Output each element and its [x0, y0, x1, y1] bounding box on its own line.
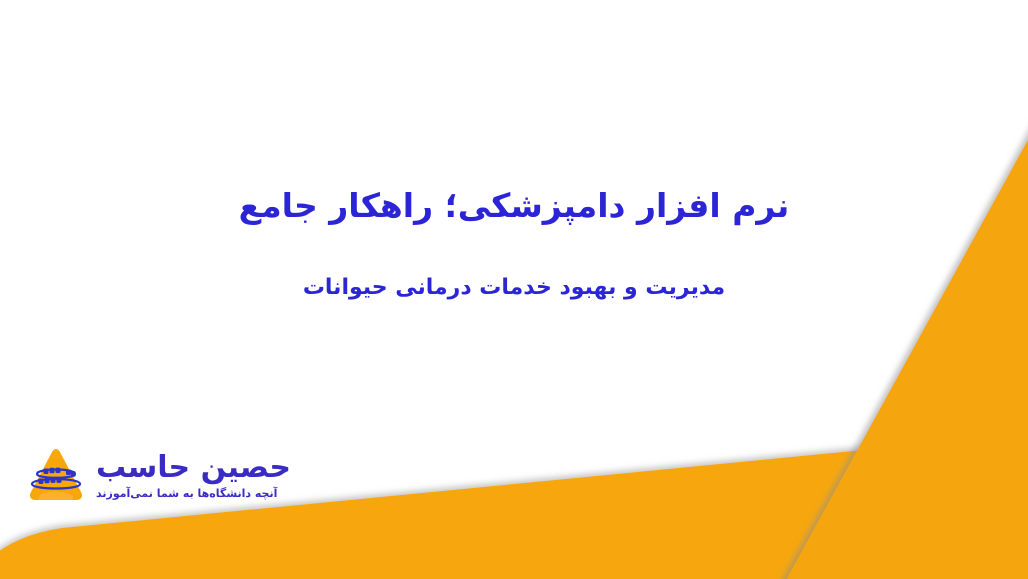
abacus-bead-icon	[50, 468, 55, 474]
pyramid-abacus-logo-icon	[26, 445, 86, 507]
brand-logo-lockup[interactable]: حصین حاسب آنچه دانشگاه‌ها به شما نمی‌آمو…	[26, 445, 291, 507]
abacus-bead-icon	[56, 468, 61, 474]
headline-block: نرم افزار دامپزشکی؛ راهکار جامع مدیریت و…	[0, 185, 1028, 303]
abacus-bead-icon	[39, 479, 44, 485]
brand-tagline: آنچه دانشگاه‌ها به شما نمی‌آموزند	[96, 483, 277, 499]
abacus-bead-icon	[44, 469, 49, 475]
brand-text-group: حصین حاسب آنچه دانشگاه‌ها به شما نمی‌آمو…	[96, 453, 291, 499]
slide-subtitle: مدیریت و بهبود خدمات درمانی حیوانات	[0, 226, 1028, 303]
slide-title: نرم افزار دامپزشکی؛ راهکار جامع	[0, 185, 1028, 226]
abacus-bead-icon	[57, 477, 62, 483]
brand-wordmark: حصین حاسب	[96, 453, 291, 483]
abacus-bead-icon	[51, 477, 56, 483]
presentation-slide: نرم افزار دامپزشکی؛ راهکار جامع مدیریت و…	[0, 0, 1028, 579]
abacus-bead-icon	[71, 471, 76, 477]
abacus-bead-icon	[66, 470, 71, 476]
abacus-bead-icon	[45, 478, 50, 484]
